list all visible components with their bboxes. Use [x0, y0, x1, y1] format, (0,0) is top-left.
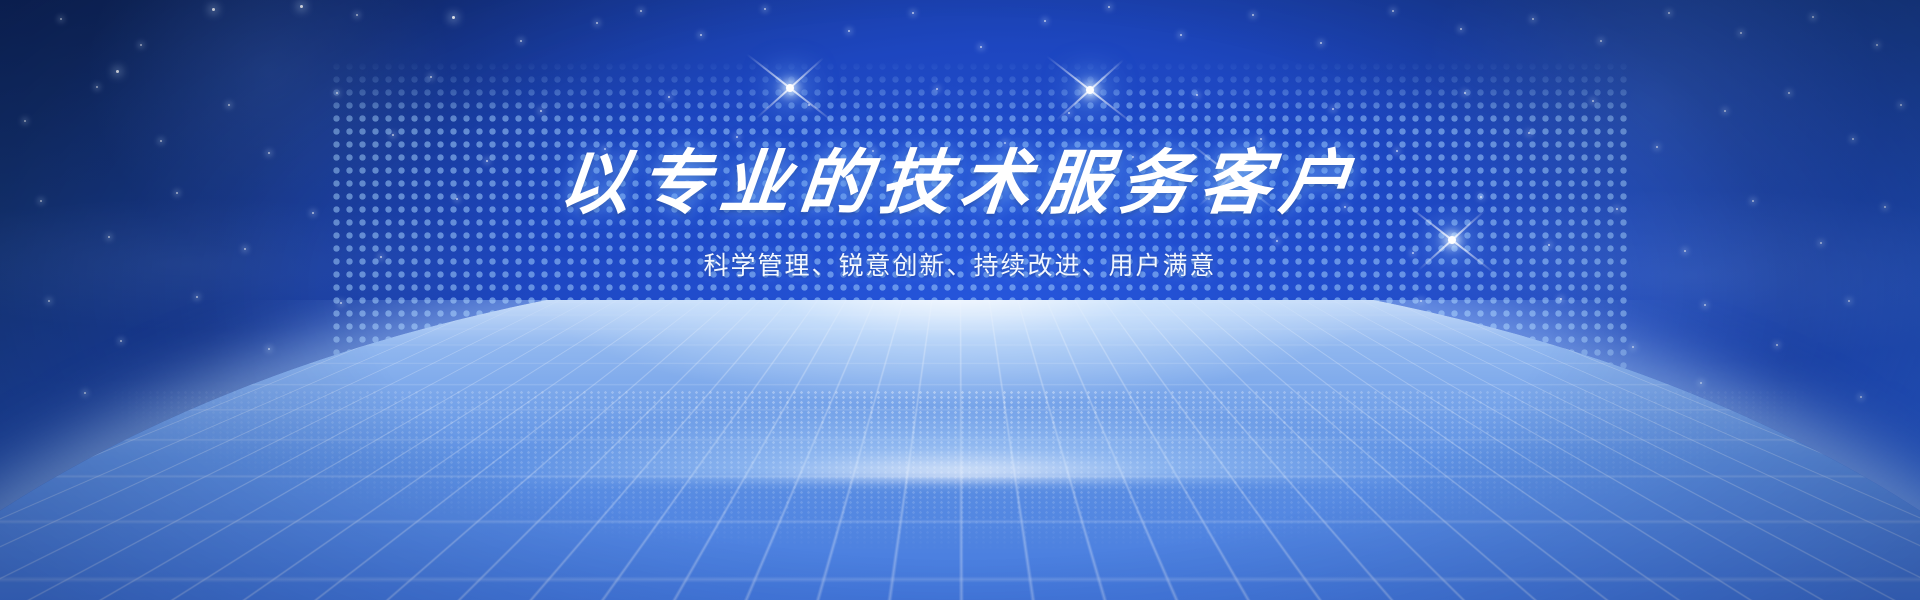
banner-subline: 科学管理、锐意创新、持续改进、用户满意	[703, 246, 1216, 282]
banner-content: 以专业的技术服务客户 科学管理、锐意创新、持续改进、用户满意	[0, 0, 1920, 600]
banner-headline: 以专业的技术服务客户	[556, 148, 1363, 218]
hero-banner: 以专业的技术服务客户 科学管理、锐意创新、持续改进、用户满意	[0, 0, 1920, 600]
